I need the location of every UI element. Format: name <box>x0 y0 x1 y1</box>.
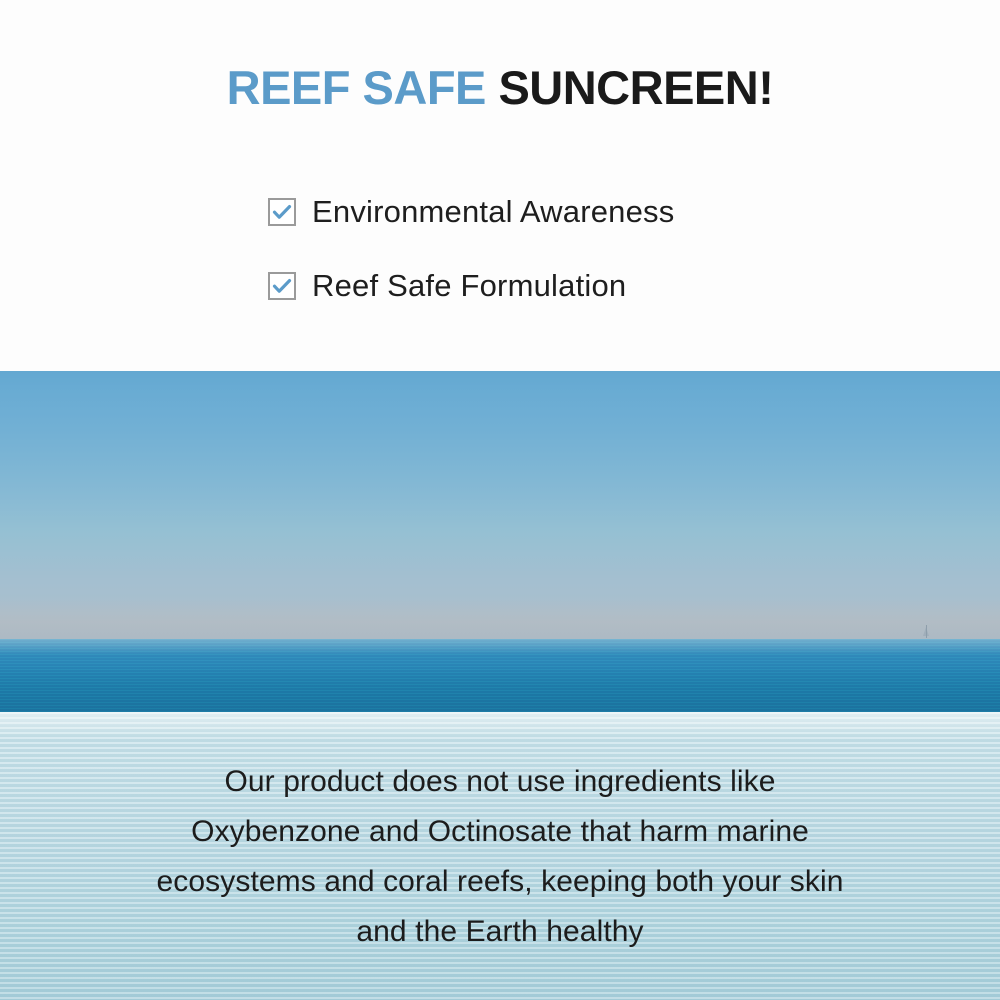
sky-region <box>0 371 1000 639</box>
horizon-haze <box>0 597 1000 639</box>
body-copy-line: Our product does not use ingredients lik… <box>60 757 940 807</box>
checkbox-checked-icon <box>268 198 296 226</box>
list-item: Reef Safe Formulation <box>268 264 968 308</box>
reef-safe-suncreen-infographic: REEF SAFE SUNCREEN! Environmental Awaren… <box>0 0 1000 1000</box>
page-title-rest: SUNCREEN! <box>498 61 773 114</box>
feature-label: Reef Safe Formulation <box>312 268 626 304</box>
foreground-edge-glow <box>0 712 1000 738</box>
distant-sailboat-icon <box>923 625 930 638</box>
feature-label: Environmental Awareness <box>312 194 674 230</box>
header-panel: REEF SAFE SUNCREEN! Environmental Awaren… <box>0 0 1000 371</box>
page-title-highlight: REEF SAFE <box>227 61 486 114</box>
body-copy-line: and the Earth healthy <box>60 907 940 957</box>
list-item: Environmental Awareness <box>268 190 968 234</box>
checkbox-checked-icon <box>268 272 296 300</box>
page-title: REEF SAFE SUNCREEN! <box>0 62 1000 114</box>
body-copy: Our product does not use ingredients lik… <box>60 757 940 957</box>
body-copy-line: ecosystems and coral reefs, keeping both… <box>60 857 940 907</box>
ocean-horizon-sheen <box>0 639 1000 655</box>
feature-checklist: Environmental Awareness Reef Safe Formul… <box>268 190 968 338</box>
ocean-region <box>0 639 1000 712</box>
body-copy-line: Oxybenzone and Octinosate that harm mari… <box>60 807 940 857</box>
